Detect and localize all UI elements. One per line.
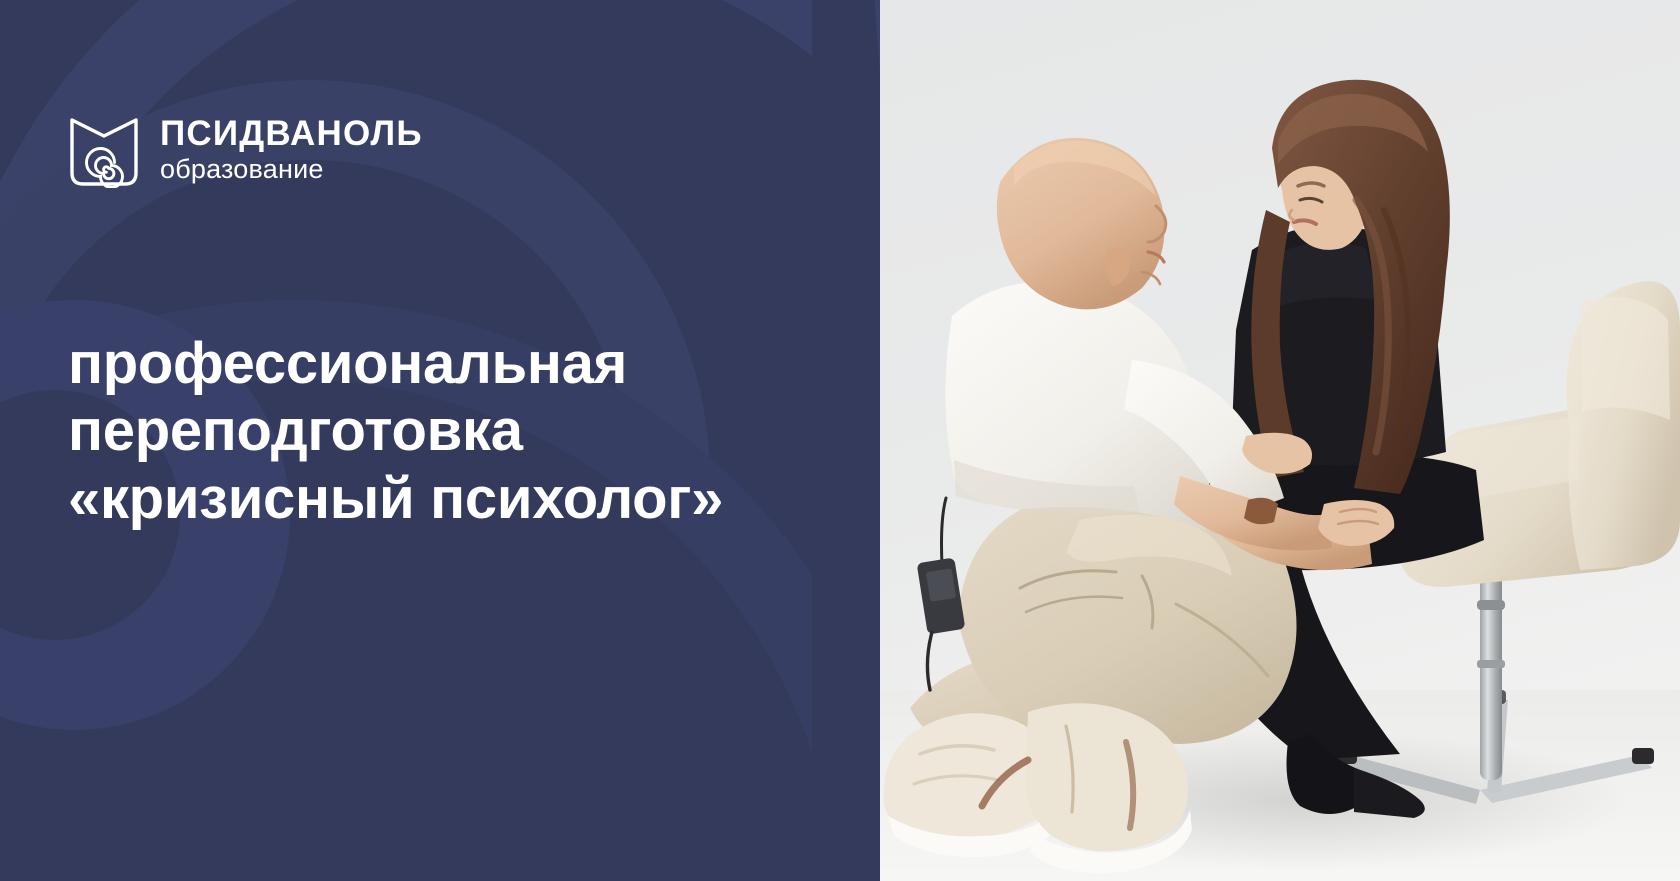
brand-logo[interactable]: ПСИДВАНОЛЬ образование [68,110,423,188]
shield-spiral-logo-icon [68,110,140,188]
brand-logo-text: ПСИДВАНОЛЬ образование [160,114,423,184]
headline-line-2: переподготовка [68,397,868,464]
left-navy-panel: ПСИДВАНОЛЬ образование профессиональная … [0,0,880,881]
page-title: профессиональная переподготовка «кризисн… [68,330,868,532]
promo-banner: ПСИДВАНОЛЬ образование профессиональная … [0,0,1680,881]
brand-tagline: образование [160,154,423,184]
hero-photo [880,0,1680,881]
hero-photo-illustration [880,0,1680,881]
headline-line-1: профессиональная [68,330,868,397]
headline-line-3: «кризисный психолог» [68,465,868,532]
brand-name: ПСИДВАНОЛЬ [160,116,423,152]
left-panel-content: ПСИДВАНОЛЬ образование профессиональная … [0,0,880,881]
